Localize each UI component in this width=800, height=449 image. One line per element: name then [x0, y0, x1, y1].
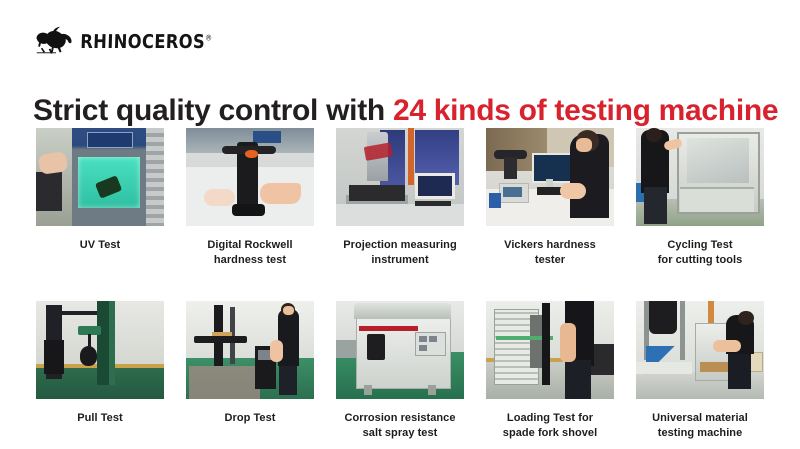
- gallery-item-caption: Vickers hardnesstester: [479, 238, 621, 267]
- uv-test-photo: [36, 128, 164, 226]
- brand-wordmark: RHINOCEROS®: [80, 33, 213, 52]
- digital-rockwell-hardness-test-photo: [186, 128, 314, 226]
- gallery-item-caption: Corrosion resistancesalt spray test: [329, 411, 471, 440]
- gallery-item: Pull Test: [36, 301, 164, 440]
- vickers-hardness-tester-photo: [486, 128, 614, 226]
- gallery-item: UV Test: [36, 128, 164, 267]
- loading-test-for-spade-fork-shovel-photo: [486, 301, 614, 399]
- registered-mark: ®: [205, 34, 212, 43]
- gallery-item: Loading Test forspade fork shovel: [486, 301, 614, 440]
- gallery-item: Digital Rockwellhardness test: [186, 128, 314, 267]
- title-lead: Strict quality control with: [33, 94, 393, 127]
- testing-machine-gallery: UV Test Digital Rockwellhardness test Pr…: [36, 128, 764, 440]
- gallery-item-caption: UV Test: [29, 238, 171, 253]
- gallery-item: Vickers hardnesstester: [486, 128, 614, 267]
- gallery-item-caption: Cycling Testfor cutting tools: [629, 238, 771, 267]
- gallery-item-caption: Digital Rockwellhardness test: [179, 238, 321, 267]
- gallery-item: Corrosion resistancesalt spray test: [336, 301, 464, 440]
- gallery-row-1: UV Test Digital Rockwellhardness test Pr…: [36, 128, 764, 267]
- gallery-item: Projection measuringinstrument: [336, 128, 464, 267]
- gallery-item-caption: Loading Test forspade fork shovel: [479, 411, 621, 440]
- universal-material-testing-machine-photo: [636, 301, 764, 399]
- drop-test-photo: [186, 301, 314, 399]
- rhinoceros-icon: [33, 24, 79, 56]
- gallery-item: Universal materialtesting machine: [636, 301, 764, 440]
- gallery-item: Cycling Testfor cutting tools: [636, 128, 764, 267]
- gallery-item-caption: Universal materialtesting machine: [629, 411, 771, 440]
- title-highlight: 24 kinds of testing machine: [393, 94, 778, 127]
- slide-root: RHINOCEROS® Strict quality control with …: [0, 0, 800, 449]
- gallery-item: Drop Test: [186, 301, 314, 440]
- gallery-item-caption: Projection measuringinstrument: [329, 238, 471, 267]
- gallery-item-caption: Pull Test: [29, 411, 171, 426]
- pull-test-photo: [36, 301, 164, 399]
- projection-measuring-instrument-photo: [336, 128, 464, 226]
- gallery-item-caption: Drop Test: [179, 411, 321, 426]
- page-title: Strict quality control with 24 kinds of …: [33, 93, 778, 129]
- corrosion-resistance-salt-spray-test-photo: [336, 301, 464, 399]
- cycling-test-for-cutting-tools-photo: [636, 128, 764, 226]
- brand-logo: RHINOCEROS®: [33, 22, 233, 56]
- gallery-row-2: Pull Test Drop Test Corrosion resistance…: [36, 301, 764, 440]
